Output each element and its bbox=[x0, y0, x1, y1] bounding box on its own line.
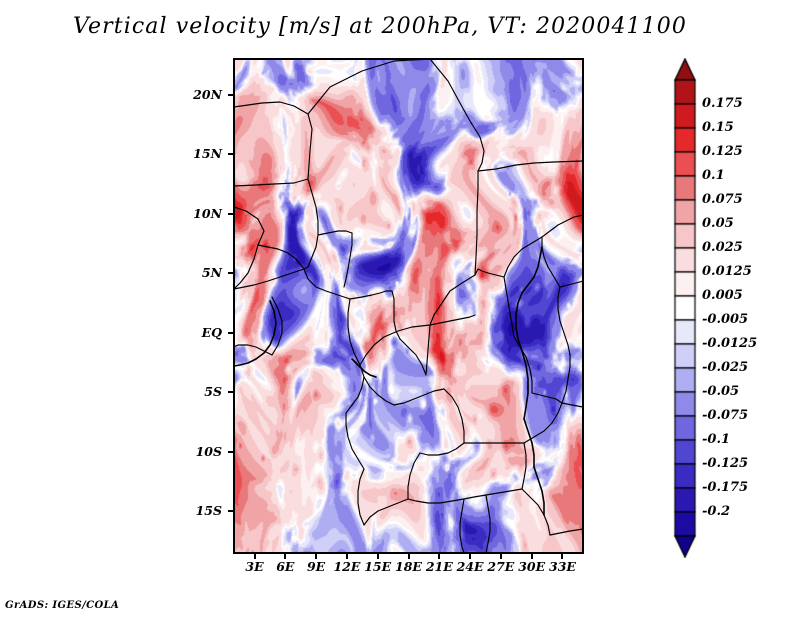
colorbar-tick-label: 0.025 bbox=[702, 241, 743, 254]
y-axis-label: 15N bbox=[158, 148, 222, 161]
colorbar bbox=[672, 58, 698, 558]
page-title: Vertical velocity [m/s] at 200hPa, VT: 2… bbox=[0, 14, 760, 39]
x-axis-tick bbox=[408, 553, 410, 559]
colorbar-tick-label: -0.005 bbox=[702, 313, 748, 326]
y-axis-label: 5S bbox=[158, 386, 222, 399]
country-borders-overlay bbox=[234, 59, 583, 553]
colorbar-tick-label: 0.075 bbox=[702, 193, 743, 206]
colorbar-tick-label: -0.075 bbox=[702, 409, 748, 422]
y-axis-label: 5N bbox=[158, 267, 222, 280]
colorbar-tick-label: -0.175 bbox=[702, 481, 748, 494]
colorbar-tick-label: -0.125 bbox=[702, 457, 748, 470]
y-axis-label: 10S bbox=[158, 446, 222, 459]
x-axis-tick bbox=[531, 553, 533, 559]
y-axis-tick bbox=[228, 213, 234, 215]
x-axis-tick bbox=[254, 553, 256, 559]
colorbar-tick-label: -0.1 bbox=[702, 433, 730, 446]
y-axis-tick bbox=[228, 94, 234, 96]
y-axis-label: 15S bbox=[158, 505, 222, 518]
colorbar-tick-label: -0.2 bbox=[702, 505, 730, 518]
x-axis-tick bbox=[346, 553, 348, 559]
colorbar-tick-label: 0.05 bbox=[702, 217, 734, 230]
y-axis-label: 20N bbox=[158, 89, 222, 102]
y-axis-label: 10N bbox=[158, 208, 222, 221]
y-axis-tick bbox=[228, 451, 234, 453]
colorbar-tick-label: 0.125 bbox=[702, 145, 743, 158]
colorbar-tick-label: 0.175 bbox=[702, 97, 743, 110]
colorbar-tick-label: 0.1 bbox=[702, 169, 725, 182]
x-axis-tick bbox=[315, 553, 317, 559]
y-axis-tick bbox=[228, 510, 234, 512]
x-axis-label: 33E bbox=[542, 561, 582, 574]
x-axis-tick bbox=[284, 553, 286, 559]
colorbar-tick-label: 0.0125 bbox=[702, 265, 752, 278]
y-axis-tick bbox=[228, 391, 234, 393]
map-plot-area bbox=[234, 59, 583, 553]
x-axis-tick bbox=[377, 553, 379, 559]
y-axis-label: EQ bbox=[158, 327, 222, 340]
y-axis-tick bbox=[228, 332, 234, 334]
y-axis-tick bbox=[228, 153, 234, 155]
x-axis-tick bbox=[561, 553, 563, 559]
x-axis-tick bbox=[500, 553, 502, 559]
colorbar-tick-label: -0.025 bbox=[702, 361, 748, 374]
colorbar-tick-label: 0.005 bbox=[702, 289, 743, 302]
colorbar-tick-label: -0.0125 bbox=[702, 337, 757, 350]
colorbar-tick-label: -0.05 bbox=[702, 385, 739, 398]
y-axis-tick bbox=[228, 272, 234, 274]
grads-credit: GrADS: IGES/COLA bbox=[5, 600, 119, 611]
colorbar-tick-label: 0.15 bbox=[702, 121, 734, 134]
x-axis-tick bbox=[469, 553, 471, 559]
x-axis-tick bbox=[438, 553, 440, 559]
